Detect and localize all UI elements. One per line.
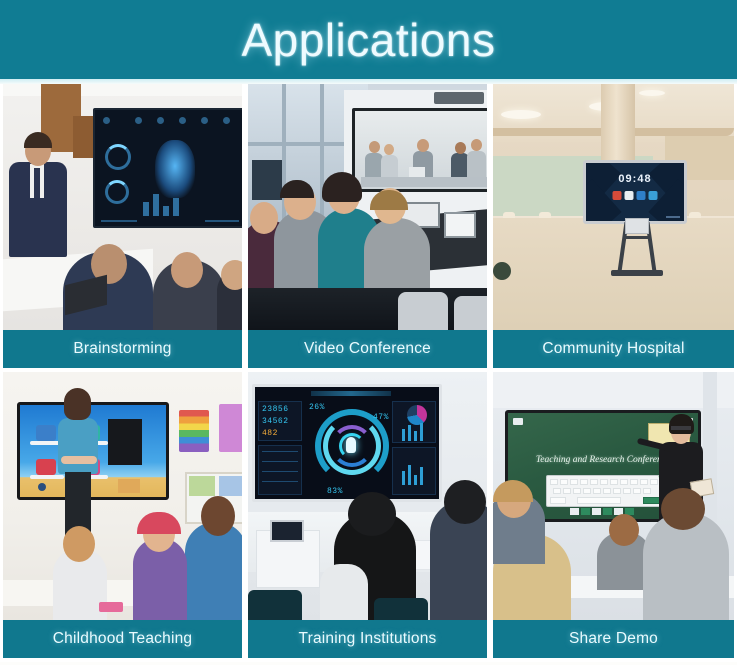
plant bbox=[493, 262, 511, 280]
remote-participant bbox=[467, 151, 486, 179]
child-body bbox=[185, 522, 242, 620]
attendee-shoulder bbox=[320, 564, 368, 620]
dashboard-avatar-glyph bbox=[346, 437, 356, 453]
lesson-jar-icon bbox=[36, 459, 56, 475]
stand-base bbox=[611, 270, 663, 276]
dashboard-title-bar bbox=[311, 391, 391, 396]
stand-shelf bbox=[625, 218, 649, 234]
card-caption-training-institutions: Training Institutions bbox=[248, 620, 487, 658]
remote-table bbox=[361, 177, 487, 187]
ceiling-light-icon bbox=[501, 110, 541, 119]
bookshelf bbox=[252, 160, 282, 200]
application-card-training-institutions[interactable]: 23856 34562 482 26% 47% 83% bbox=[245, 372, 490, 662]
display-stand bbox=[621, 222, 653, 274]
audience-member-head bbox=[221, 260, 242, 290]
classroom-poster bbox=[179, 410, 209, 452]
on-screen-keyboard[interactable] bbox=[546, 475, 666, 507]
app-icon-lightblue[interactable] bbox=[649, 191, 658, 200]
application-card-childhood-teaching[interactable]: Childhood Teaching bbox=[0, 372, 245, 662]
toolbar-icon[interactable] bbox=[603, 508, 612, 515]
app-icon-blue[interactable] bbox=[637, 191, 646, 200]
child-head bbox=[201, 496, 235, 536]
application-card-video-conference[interactable]: Video Conference bbox=[245, 84, 490, 372]
card-caption-share-demo: Share Demo bbox=[493, 620, 734, 658]
audience-member-head bbox=[171, 252, 203, 288]
toolbar-icon[interactable] bbox=[592, 508, 601, 515]
teacher-body bbox=[58, 418, 98, 474]
attendee-head bbox=[348, 492, 396, 536]
application-card-brainstorming[interactable]: Brainstorming bbox=[0, 84, 245, 372]
ceiling-light-icon bbox=[639, 90, 665, 96]
ceiling-strip bbox=[3, 84, 242, 96]
attendee-head bbox=[250, 202, 278, 234]
screen-video-panel bbox=[108, 419, 142, 465]
student-head bbox=[661, 488, 705, 530]
gauge-ring-icon bbox=[105, 144, 131, 170]
interactive-display-screen bbox=[93, 108, 242, 228]
student-head bbox=[609, 514, 639, 546]
key-space[interactable] bbox=[577, 497, 621, 504]
remote-participant bbox=[381, 155, 398, 179]
card-caption-childhood-teaching: Childhood Teaching bbox=[3, 620, 242, 658]
card-photo-brainstorming bbox=[3, 84, 242, 330]
card-photo-childhood-teaching bbox=[3, 372, 242, 620]
presenter-hair bbox=[669, 414, 694, 434]
application-card-share-demo[interactable]: Teaching and Research Conference bbox=[490, 372, 737, 662]
mobile-display-screen[interactable]: 09:48 bbox=[583, 160, 687, 224]
video-call-screen bbox=[352, 108, 487, 192]
key-shift[interactable] bbox=[550, 497, 566, 504]
page-title: Applications bbox=[241, 13, 495, 67]
teacher-arms bbox=[61, 456, 97, 464]
wall-panel bbox=[703, 372, 717, 522]
page-header: Applications bbox=[0, 0, 737, 79]
lectern-monitor bbox=[270, 520, 304, 542]
projector-icon bbox=[434, 92, 484, 104]
presenter-tie bbox=[34, 168, 40, 198]
toolbar-icon[interactable] bbox=[570, 508, 579, 515]
chair bbox=[374, 598, 428, 620]
child-hair-bow bbox=[137, 512, 181, 534]
app-icon-red[interactable] bbox=[613, 191, 622, 200]
classroom-poster bbox=[219, 404, 242, 452]
document-stand bbox=[444, 212, 476, 238]
card-photo-community-hospital: 09:48 bbox=[493, 84, 734, 330]
chair bbox=[248, 590, 302, 620]
desk-item bbox=[99, 602, 123, 612]
dashboard-pie-chart bbox=[407, 405, 427, 425]
screen-toolbar bbox=[101, 116, 237, 126]
card-photo-share-demo: Teaching and Research Conference bbox=[493, 372, 734, 620]
card-caption-brainstorming: Brainstorming bbox=[3, 330, 242, 368]
chair bbox=[454, 296, 487, 330]
chair-row bbox=[248, 288, 487, 330]
training-dashboard-screen: 23856 34562 482 26% 47% 83% bbox=[252, 384, 442, 502]
wall-top bbox=[493, 372, 734, 408]
holographic-hand-graphic bbox=[155, 140, 195, 198]
card-photo-video-conference bbox=[248, 84, 487, 330]
lesson-jar-icon bbox=[36, 425, 56, 441]
card-caption-video-conference: Video Conference bbox=[248, 330, 487, 368]
attendee-head bbox=[444, 480, 486, 524]
card-caption-community-hospital: Community Hospital bbox=[493, 330, 734, 368]
chair bbox=[398, 292, 448, 330]
card-photo-training-institutions: 23856 34562 482 26% 47% 83% bbox=[248, 372, 487, 620]
app-icon-white[interactable] bbox=[625, 191, 634, 200]
teacher-hair bbox=[64, 388, 91, 420]
applications-grid: Brainstorming bbox=[0, 84, 737, 662]
applications-page: Applications bbox=[0, 0, 737, 665]
board-corner-button[interactable] bbox=[513, 418, 523, 425]
child-head bbox=[63, 526, 95, 562]
gauge-ring-icon bbox=[105, 180, 129, 204]
screen-app-icons[interactable] bbox=[613, 191, 658, 200]
application-card-community-hospital[interactable]: 09:48 Communi bbox=[490, 84, 737, 372]
presenter-glasses-icon bbox=[671, 426, 691, 430]
screen-clock: 09:48 bbox=[586, 173, 684, 185]
remote-laptop-icon bbox=[409, 167, 425, 177]
toolbar-icon[interactable] bbox=[581, 508, 590, 515]
